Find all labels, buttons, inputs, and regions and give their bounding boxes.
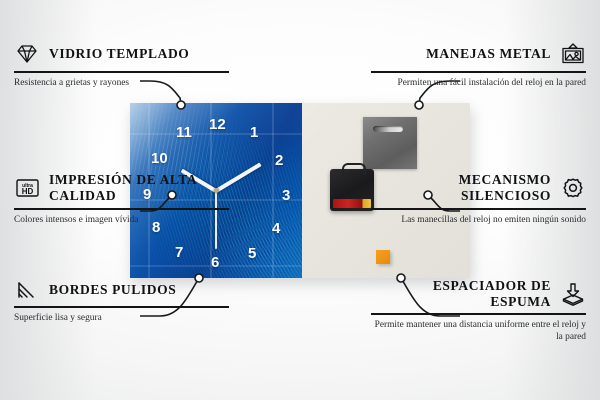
callout-title: ESPACIADOR DE ESPUMA: [371, 278, 551, 309]
gear-icon: [560, 176, 586, 200]
callout-bordes-pulidos: BORDES PULIDOS Superficie lisa y segura: [14, 278, 229, 324]
callout-desc: Permiten una fácil instalación del reloj…: [371, 77, 586, 89]
callout-desc: Las manecillas del reloj no emiten ningú…: [371, 214, 586, 226]
callout-desc: Permite mantener una distancia uniforme …: [371, 319, 586, 344]
foam-spacer-icon: [560, 282, 586, 306]
picture-hanger-icon: [560, 42, 586, 66]
callout-rule: [371, 208, 586, 210]
callout-impresion-alta-calidad: ultra HD IMPRESIÓN DE ALTA CALIDAD Color…: [14, 172, 229, 226]
callout-espaciador-de-espuma: ESPACIADOR DE ESPUMA Permite mantener un…: [371, 278, 586, 344]
callout-desc: Resistencia a grietas y rayones: [14, 77, 229, 89]
callout-rule: [371, 313, 586, 315]
battery: [333, 199, 371, 208]
callout-desc: Colores intensos e imagen vívida: [14, 214, 229, 226]
callout-vidrio-templado: VIDRIO TEMPLADO Resistencia a grietas y …: [14, 42, 229, 89]
clock-mechanism-box: [330, 169, 374, 211]
callout-title: IMPRESIÓN DE ALTA CALIDAD: [49, 172, 229, 203]
svg-text:HD: HD: [22, 187, 34, 196]
callout-title: MECANISMO SILENCIOSO: [371, 172, 551, 203]
callout-rule: [14, 71, 229, 73]
callout-rule: [14, 208, 229, 210]
callout-rule: [371, 71, 586, 73]
callout-title: BORDES PULIDOS: [49, 282, 176, 298]
callout-desc: Superficie lisa y segura: [14, 312, 229, 324]
callout-title: VIDRIO TEMPLADO: [49, 46, 189, 62]
metal-hanger-plate: [363, 117, 417, 169]
polished-edges-icon: [14, 278, 40, 302]
callout-mecanismo-silencioso: MECANISMO SILENCIOSO Las manecillas del …: [371, 172, 586, 226]
callout-rule: [14, 306, 229, 308]
infographic-canvas: 12 1 2 3 4 5 6 7 8 9 10 11: [0, 0, 600, 400]
diamond-icon: [14, 42, 40, 66]
callout-title: MANEJAS METAL: [426, 46, 551, 62]
foam-spacer: [376, 250, 390, 264]
callout-manejas-metal: MANEJAS METAL Permiten una fácil instala…: [371, 42, 586, 89]
ultra-hd-icon: ultra HD: [14, 176, 40, 200]
